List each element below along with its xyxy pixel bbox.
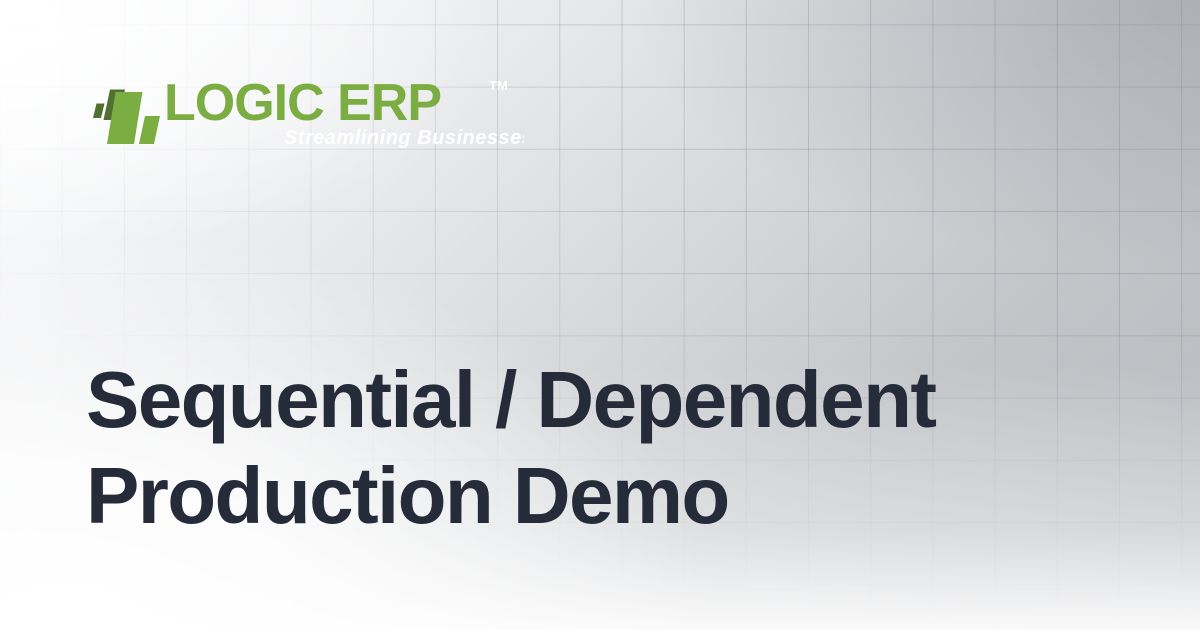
page-title-line-1: Sequential / Dependent [86,352,1106,448]
logic-erp-wordmark: LOGIC ERP TM Streamlining Businesses [164,74,524,150]
logo-word-logic: LOGIC ERP [164,74,441,132]
page-title: Sequential / Dependent Production Demo [86,352,1106,544]
social-card-canvas: LOGIC ERP TM Streamlining Businesses LOG… [0,0,1200,630]
logic-erp-bars-icon [88,72,174,150]
logo-tagline: Streamlining Businesses [284,127,524,149]
logic-erp-logo: LOGIC ERP TM Streamlining Businesses LOG… [88,68,518,156]
logo-trademark-symbol: TM [489,78,508,93]
page-title-line-2: Production Demo [86,448,1106,544]
